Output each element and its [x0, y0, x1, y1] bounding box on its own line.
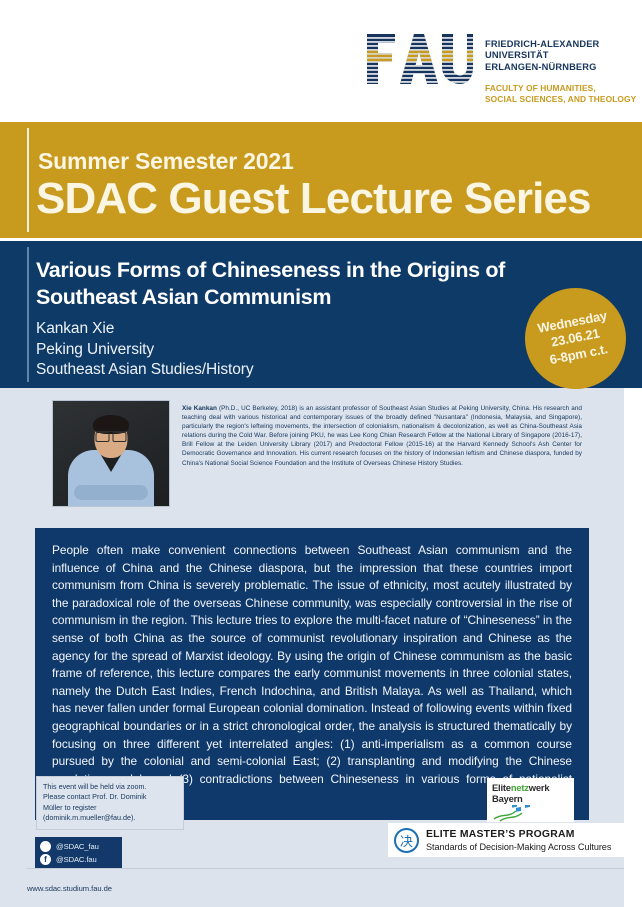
enb-netz-text: netz — [511, 782, 529, 793]
twitter-bird-icon: 𝒣 — [40, 841, 51, 852]
zoom-note-line-2: Please contact Prof. Dr. Dominik — [43, 792, 177, 802]
zoom-note-line-4[interactable]: (dominik.m.mueller@fau.de). — [43, 813, 177, 823]
portrait-glasses-icon — [96, 431, 127, 439]
gold-title-band: Summer Semester 2021 SDAC Guest Lecture … — [0, 122, 642, 238]
social-links-box: 𝒣 @SDAC_fau f @SDAC.fau — [35, 837, 122, 869]
speaker-affiliation: Peking University — [36, 340, 253, 361]
poster-header: FRIEDRICH-ALEXANDER UNIVERSITÄT ERLANGEN… — [0, 0, 642, 122]
twitter-link-row[interactable]: 𝒣 @SDAC_fau — [40, 840, 117, 853]
poster-root: FRIEDRICH-ALEXANDER UNIVERSITÄT ERLANGEN… — [0, 0, 642, 907]
fau-wordmark-icon — [367, 34, 473, 84]
blue-band-divider-rule — [27, 247, 29, 382]
fau-logo-block: FRIEDRICH-ALEXANDER UNIVERSITÄT ERLANGEN… — [367, 34, 636, 104]
fau-logo-text: FRIEDRICH-ALEXANDER UNIVERSITÄT ERLANGEN… — [485, 34, 636, 104]
website-url[interactable]: www.sdac.studium.fau.de — [27, 884, 112, 893]
enb-logo-line-2: Bayern — [492, 793, 569, 804]
zoom-note-line-1: This event will be held via zoom. — [43, 782, 177, 792]
faculty-line-1: FACULTY OF HUMANITIES, — [485, 83, 636, 93]
speaker-portrait-image — [52, 400, 170, 507]
zoom-registration-note: This event will be held via zoom. Please… — [36, 776, 184, 830]
emp-logo-line-1: ELITE MASTER’S PROGRAM — [426, 828, 611, 841]
enb-elite-text: Elite — [492, 782, 511, 793]
elite-masters-program-logo: 决 ELITE MASTER’S PROGRAM Standards of De… — [388, 823, 624, 857]
speaker-bio-body: (Ph.D., UC Berkeley, 2018) is an assista… — [182, 405, 582, 467]
gold-band-divider-rule — [27, 128, 29, 232]
facebook-handle: @SDAC.fau — [56, 855, 97, 864]
university-name-line-1: FRIEDRICH-ALEXANDER — [485, 39, 636, 50]
footer-divider — [27, 868, 624, 869]
speaker-block: Kankan Xie Peking University Southeast A… — [36, 319, 253, 381]
enb-flag-swoosh-icon — [492, 805, 538, 822]
university-name-line-2: UNIVERSITÄT — [485, 50, 636, 61]
emp-logo-text: ELITE MASTER’S PROGRAM Standards of Deci… — [426, 828, 611, 853]
portrait-arms — [74, 485, 148, 500]
enb-werk-text: werk — [529, 782, 550, 793]
speaker-name: Kankan Xie — [36, 319, 253, 340]
emp-logo-line-2: Standards of Decision-Making Across Cult… — [426, 841, 611, 853]
elitenetzwerk-bayern-logo: Elitenetzwerk Bayern — [487, 778, 574, 822]
speaker-department: Southeast Asian Studies/History — [36, 360, 253, 381]
enb-logo-line-1: Elitenetzwerk — [492, 782, 569, 793]
speaker-bio-name: Xie Kankan — [182, 405, 217, 412]
lecture-title: Various Forms of Chineseness in the Orig… — [36, 257, 516, 311]
university-name-line-3: ERLANGEN-NÜRNBERG — [485, 62, 636, 73]
speaker-bio-text: Xie Kankan (Ph.D., UC Berkeley, 2018) is… — [182, 400, 582, 468]
speaker-bio-row: Xie Kankan (Ph.D., UC Berkeley, 2018) is… — [52, 400, 582, 507]
twitter-handle: @SDAC_fau — [56, 842, 99, 851]
facebook-f-icon: f — [40, 854, 51, 865]
series-title: SDAC Guest Lecture Series — [36, 174, 591, 224]
facebook-link-row[interactable]: f @SDAC.fau — [40, 853, 117, 866]
semester-label: Summer Semester 2021 — [38, 148, 294, 175]
zoom-note-line-3: Müller to register — [43, 803, 177, 813]
faculty-line-2: SOCIAL SCIENCES, AND THEOLOGY — [485, 94, 636, 104]
sdac-seal-icon: 决 — [394, 828, 419, 853]
